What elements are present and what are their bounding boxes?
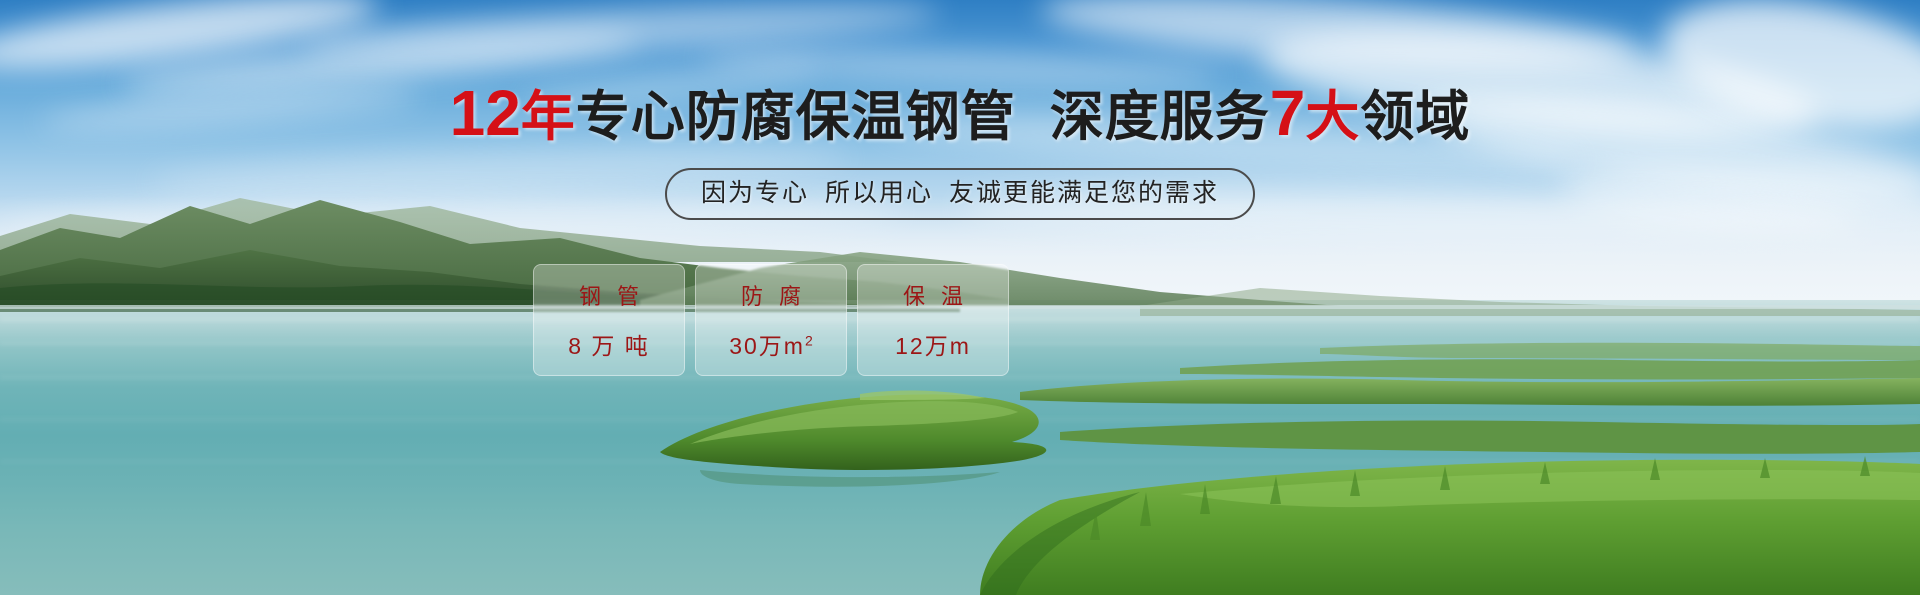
stat-card-value-sup: 2 (805, 332, 813, 348)
sky-background (0, 0, 1920, 300)
subtitle-part-2: 所以用心 (825, 179, 933, 207)
headline-tail-text: 领域 (1360, 87, 1470, 147)
hero-banner: 12年专心防腐保温钢管深度服务7大领域 因为专心所以用心友诚更能满足您的需求 钢… (0, 0, 1920, 595)
water-highlight (0, 376, 1920, 379)
water-highlight (0, 460, 1920, 463)
stat-card-value-text: 30万m (729, 333, 805, 359)
headline-fields-number: 7 (1270, 77, 1306, 149)
subtitle-part-3: 友诚更能满足您的需求 (949, 179, 1219, 207)
stat-card-value: 30万m2 (729, 327, 813, 361)
stat-card-insulation[interactable]: 保 温 12万m (857, 264, 1009, 376)
headline-mid-text: 专心防腐保温钢管 (576, 87, 1016, 147)
headline-fields-unit: 大 (1305, 87, 1360, 147)
cloud-wisp (0, 0, 382, 83)
stat-card-value-text: 12万m (895, 333, 971, 359)
water-highlight (0, 418, 1920, 421)
subtitle-pill: 因为专心所以用心友诚更能满足您的需求 (665, 168, 1255, 220)
headline: 12年专心防腐保温钢管深度服务7大领域 (0, 82, 1920, 148)
cloud-wisp (1039, 0, 1642, 83)
stat-card-value-text: 8 万 吨 (568, 333, 650, 359)
stat-card-value: 8 万 吨 (568, 327, 650, 361)
stat-card-value: 12万m (895, 327, 971, 361)
stat-card-steel-pipe[interactable]: 钢 管 8 万 吨 (533, 264, 685, 376)
subtitle-container: 因为专心所以用心友诚更能满足您的需求 (0, 168, 1920, 220)
subtitle-part-1: 因为专心 (701, 179, 809, 207)
headline-years-number: 12 (450, 77, 521, 149)
stat-card-label: 防 腐 (736, 279, 806, 311)
stat-card-anticorrosion[interactable]: 防 腐 30万m2 (695, 264, 847, 376)
headline-years-unit: 年 (521, 87, 576, 147)
stat-cards: 钢 管 8 万 吨 防 腐 30万m2 保 温 12万m (533, 264, 1009, 376)
headline-service-text: 深度服务 (1050, 87, 1270, 147)
stat-card-label: 钢 管 (574, 279, 644, 311)
cloud-wisp (299, 0, 940, 67)
stat-card-label: 保 温 (898, 279, 968, 311)
